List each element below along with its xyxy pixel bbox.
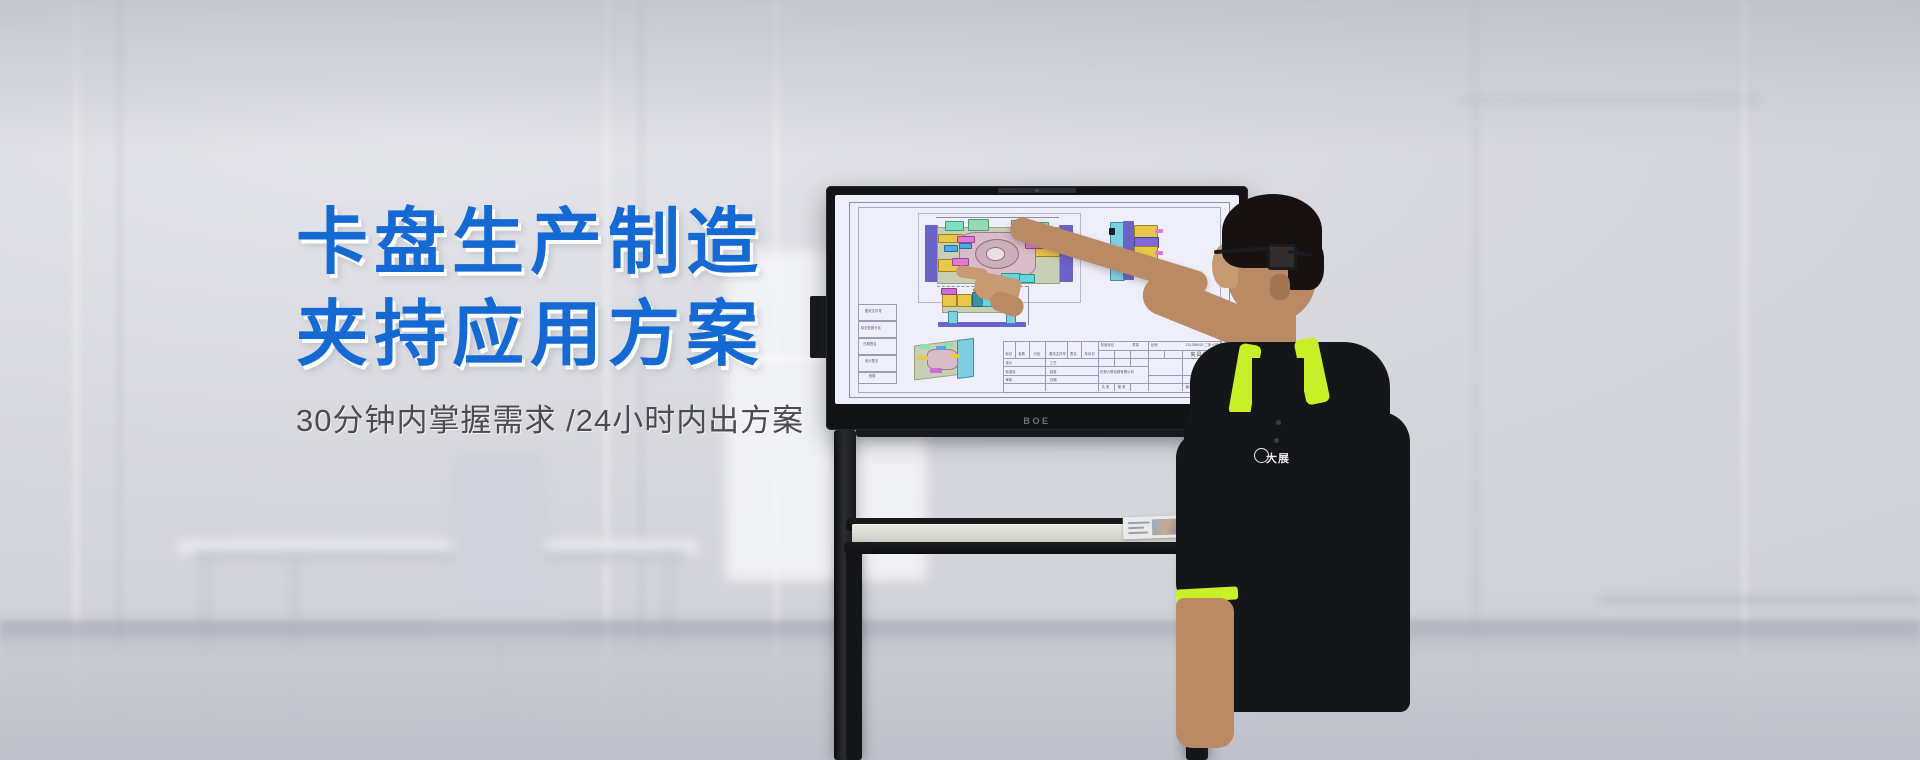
- side-marker: [1109, 228, 1115, 234]
- iso-clamp-arm: [930, 368, 942, 373]
- cad-header-cell: 标记: [1005, 353, 1012, 356]
- cad-title-rule: [1164, 350, 1165, 358]
- front-leg: [948, 311, 958, 323]
- document-line: [1128, 531, 1148, 534]
- cad-title-rule: [1130, 383, 1131, 391]
- cad-title-rule: [1067, 341, 1068, 358]
- cad-bottom-cell: 共 张: [1102, 386, 1110, 389]
- cad-title-rule: [1003, 366, 1098, 367]
- cad-left-label: 校核: [869, 375, 876, 378]
- cad-mid-label: 日期: [1050, 379, 1057, 382]
- camera-lens-icon: [1035, 189, 1039, 192]
- sleeve-left: [1176, 432, 1236, 602]
- cart-lower-leg-left: [846, 548, 862, 760]
- cad-header-cell: 处数: [1018, 353, 1025, 356]
- cad-mid-label: 设计: [1005, 362, 1012, 365]
- side-pin: [1155, 251, 1163, 254]
- cad-left-label: 日期签名: [863, 343, 877, 346]
- cad-bottom-cell: 第 张: [1118, 386, 1126, 389]
- cad-mid-label: 标准化: [1005, 371, 1015, 374]
- support-block: [1019, 274, 1035, 283]
- cad-header-cell: 分区: [1034, 353, 1041, 356]
- cart-shelf-rail-front: [844, 542, 1200, 554]
- cad-left-label: 设计签名: [865, 360, 879, 363]
- cad-header-cell: 年月日: [1085, 353, 1095, 356]
- shirt-button: [1274, 438, 1279, 443]
- presenter: 大展: [1170, 182, 1470, 760]
- clamp-unit: [968, 219, 989, 231]
- cad-company-name: 东莞六联机械有限公司: [1100, 371, 1134, 374]
- blue-block: [944, 245, 958, 252]
- iso-clamp: [920, 344, 931, 349]
- cad-title-rule: [1081, 341, 1082, 358]
- document-line: [1128, 527, 1144, 530]
- cad-dimension-line: [936, 217, 1059, 218]
- locator-pin: [957, 236, 975, 243]
- chest-logo: 大展: [1266, 450, 1290, 466]
- banner-stage: 卡盘生产制造 夹持应用方案 30分钟内掌握需求 /24小时内出方案: [0, 0, 1920, 760]
- iso-workpiece: [927, 349, 958, 371]
- cad-title-rule: [1003, 375, 1098, 376]
- glasses-lens: [1267, 244, 1297, 270]
- cad-left-cell: [858, 371, 897, 384]
- cad-mid-label: 批准: [1050, 371, 1057, 374]
- ear: [1270, 274, 1290, 300]
- iso-cylinder: [917, 356, 928, 360]
- cad-right-header: 阶段标记: [1101, 344, 1115, 347]
- iso-view-rail: [957, 338, 974, 379]
- chest-logo-mark-icon: [1254, 448, 1269, 463]
- display-brand-logo: BOE: [1023, 416, 1050, 426]
- collar-center: [1252, 358, 1304, 420]
- lower-arm-left: [1176, 598, 1234, 748]
- shirt-button: [1276, 420, 1281, 425]
- cad-title-rule: [1130, 350, 1131, 367]
- cad-left-label: 标记处数分区: [861, 327, 881, 330]
- front-clamp-arm: [941, 288, 958, 295]
- clamp-unit: [945, 221, 964, 231]
- cad-dimension-line: [1028, 286, 1029, 326]
- iso-block: [936, 346, 946, 350]
- cad-left-label: 更改文件号: [865, 310, 882, 313]
- cad-mid-label: 审核: [1005, 379, 1012, 382]
- side-pin: [1155, 229, 1163, 232]
- cad-title-rule: [1015, 341, 1016, 358]
- cad-title-rule: [1114, 350, 1115, 367]
- iso-cylinder: [950, 354, 961, 358]
- cad-title-rule: [1045, 341, 1046, 391]
- cad-right-header: 重量: [1132, 344, 1139, 347]
- cad-header-cell: 签名: [1070, 353, 1077, 356]
- cad-title-rule: [1114, 383, 1115, 391]
- cad-mid-label: 工艺: [1050, 362, 1057, 365]
- document-line: [1128, 521, 1150, 524]
- cad-title-rule: [1098, 366, 1149, 367]
- cad-right-header: 比例: [1151, 344, 1158, 347]
- cad-title-rule: [1029, 341, 1030, 358]
- workpiece-center-bore: [986, 247, 1005, 260]
- front-cylinder: [957, 294, 972, 307]
- cad-header-cell: 更改文件号: [1049, 353, 1066, 356]
- blue-block: [959, 243, 972, 249]
